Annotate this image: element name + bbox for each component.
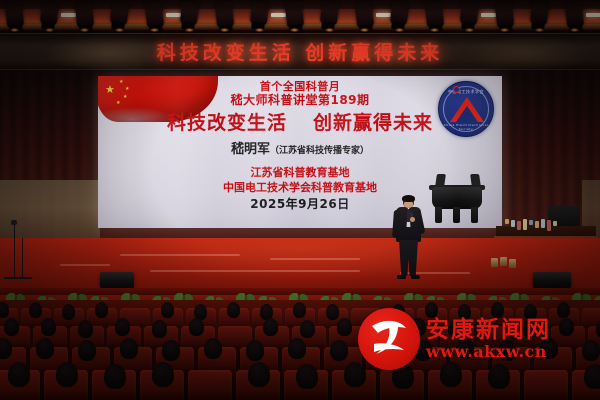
led-banner-text: 科技改变生活 创新赢得未来: [157, 38, 444, 65]
ceiling-light-strip: [376, 13, 391, 17]
desk-item: [517, 221, 521, 230]
audience-head: [62, 304, 75, 320]
audience-head: [227, 302, 240, 318]
audience-head: [41, 318, 56, 336]
slide-text-block: 首个全国科普月 嵇大师科普讲堂第189期 科技改变生活创新赢得未来 嵇明军（江苏…: [98, 76, 502, 228]
audience-head: [78, 340, 96, 361]
presenter: [392, 196, 424, 282]
led-banner: 科技改变生活 创新赢得未来: [0, 33, 600, 70]
audience-head: [152, 362, 174, 387]
stage-light: [40, 1, 60, 26]
ceiling-glow: [185, 28, 194, 32]
stage-light: [145, 1, 165, 29]
desk-item: [505, 219, 509, 224]
slide-kicker-line-1: 首个全国科普月: [260, 81, 341, 93]
audience-head: [293, 302, 306, 318]
ceiling-glow: [150, 28, 159, 32]
slide-title-left: 科技改变生活: [167, 112, 287, 134]
logo-center-dot: [453, 86, 460, 93]
stage-object-2: [500, 257, 507, 266]
slide-speaker-affiliation: （江苏省科技传播专家）: [270, 146, 369, 156]
watermark-site-name: 安康新闻网: [426, 318, 551, 341]
audience-head: [120, 338, 138, 359]
audience-head: [161, 302, 174, 318]
slide-date: 2025年9月26日: [250, 198, 349, 211]
ceiling-glow: [10, 28, 19, 32]
watermark-url: www.akxw.cn: [426, 344, 551, 360]
mic-stand-pole-2: [22, 238, 23, 278]
ceiling-light-strip: [166, 13, 181, 17]
audience-head: [189, 318, 204, 336]
presenter-shoe-left: [397, 275, 406, 279]
audience-head: [326, 304, 339, 320]
stage-light: [180, 1, 200, 26]
ceiling-glow: [115, 28, 124, 32]
ceiling-glow: [360, 28, 369, 32]
ceiling-light-strip: [271, 13, 286, 17]
stage-monitor-right: [533, 272, 571, 288]
auditorium-photo: 科技改变生活 创新赢得未来 ★ ★ ★ ★ ★ 中国电工技术学会 China E…: [0, 0, 600, 400]
audience-head: [288, 338, 306, 359]
presenter-shoe-right: [411, 275, 420, 279]
ceiling-glow: [535, 28, 544, 32]
wall-panel-left: [0, 180, 100, 242]
stage-light: [390, 1, 410, 26]
audience-head: [162, 340, 180, 361]
audience-head: [330, 340, 348, 361]
stage-light: [250, 1, 270, 26]
stage-light: [215, 1, 235, 29]
audience-head: [4, 318, 19, 336]
audience-head: [204, 338, 222, 359]
desk-item: [529, 220, 533, 225]
audience-head: [300, 320, 315, 338]
slide-kicker-line-2: 嵇大师科普讲堂第189期: [230, 94, 369, 107]
audience-head: [36, 338, 54, 359]
mic-stand-base-2: [14, 277, 32, 279]
desk-item: [535, 221, 539, 228]
slide-speaker-name: 嵇明军: [231, 142, 270, 157]
mic-stand-pole: [14, 222, 15, 278]
stage-light: [5, 1, 25, 29]
mic-stand-head: [11, 220, 17, 225]
ceiling-glow: [220, 28, 229, 32]
ceiling-light-strip: [61, 13, 76, 17]
ceiling-glow: [290, 28, 299, 32]
akxw-circle-logo-icon: [358, 308, 420, 370]
desk-item: [553, 221, 557, 226]
stage-light: [355, 1, 375, 29]
slide-base-line-2: 中国电工技术学会科普教育基地: [223, 182, 377, 194]
audience-head: [78, 320, 93, 338]
desk-item: [511, 220, 515, 227]
akxw-glyph: [358, 308, 420, 370]
ceiling-light-strip: [481, 13, 496, 17]
projection-screen: ★ ★ ★ ★ ★ 中国电工技术学会 China Electrotechnica…: [98, 76, 502, 228]
stage-light: [75, 1, 95, 29]
audience-head: [296, 364, 318, 389]
ceiling-glow: [80, 28, 89, 32]
presenter-legs: [399, 240, 418, 276]
audience-head: [152, 320, 167, 338]
presenter-hand: [410, 217, 415, 222]
stage-light: [320, 1, 340, 26]
slide-speaker-line: 嵇明军（江苏省科技传播专家）: [231, 143, 369, 158]
watermark: 安康新闻网 www.akxw.cn: [358, 303, 596, 375]
slide-title-right: 创新赢得未来: [313, 112, 433, 134]
ceiling-glow: [255, 28, 264, 32]
ceiling-light-strip: [586, 13, 600, 17]
desk-item: [523, 219, 527, 230]
audience-head: [56, 362, 78, 387]
ceiling-glow: [570, 28, 579, 32]
stage-object-1: [491, 258, 498, 267]
audience-head: [0, 302, 9, 318]
ceiling-glow: [395, 28, 404, 32]
stage-monitor-left: [100, 272, 134, 288]
audience-head: [337, 318, 352, 336]
ceiling-glow: [500, 28, 509, 32]
ceiling-glow: [325, 28, 334, 32]
stage-light: [460, 1, 480, 26]
stage-light: [530, 1, 550, 26]
presenter-hair: [402, 195, 415, 202]
slide-base-line-1: 江苏省科普教育基地: [251, 167, 350, 179]
ceiling-glow: [465, 28, 474, 32]
ceiling-glow: [45, 28, 54, 32]
desk-item: [541, 219, 545, 228]
audience-head: [29, 302, 42, 318]
presenter-face: [404, 201, 413, 208]
audience-head: [596, 320, 600, 338]
audience-head: [246, 340, 264, 361]
audience-head: [115, 318, 130, 336]
audience-head: [248, 362, 270, 387]
audience-head: [263, 318, 278, 336]
ceiling-glow: [430, 28, 439, 32]
stage-light: [110, 1, 130, 26]
audience-head: [8, 362, 30, 387]
desk-item: [547, 220, 551, 231]
audience-head: [104, 364, 126, 389]
stage-light: [495, 1, 515, 29]
audience-head: [95, 302, 108, 318]
slide-main-title: 科技改变生活创新赢得未来: [167, 113, 433, 134]
audience-seat: [188, 370, 232, 400]
watermark-text: 安康新闻网 www.akxw.cn: [426, 318, 551, 360]
stage-object-3: [509, 259, 516, 268]
stage-light: [565, 1, 585, 29]
stage-light: [425, 1, 445, 29]
stage-light: [285, 1, 305, 29]
